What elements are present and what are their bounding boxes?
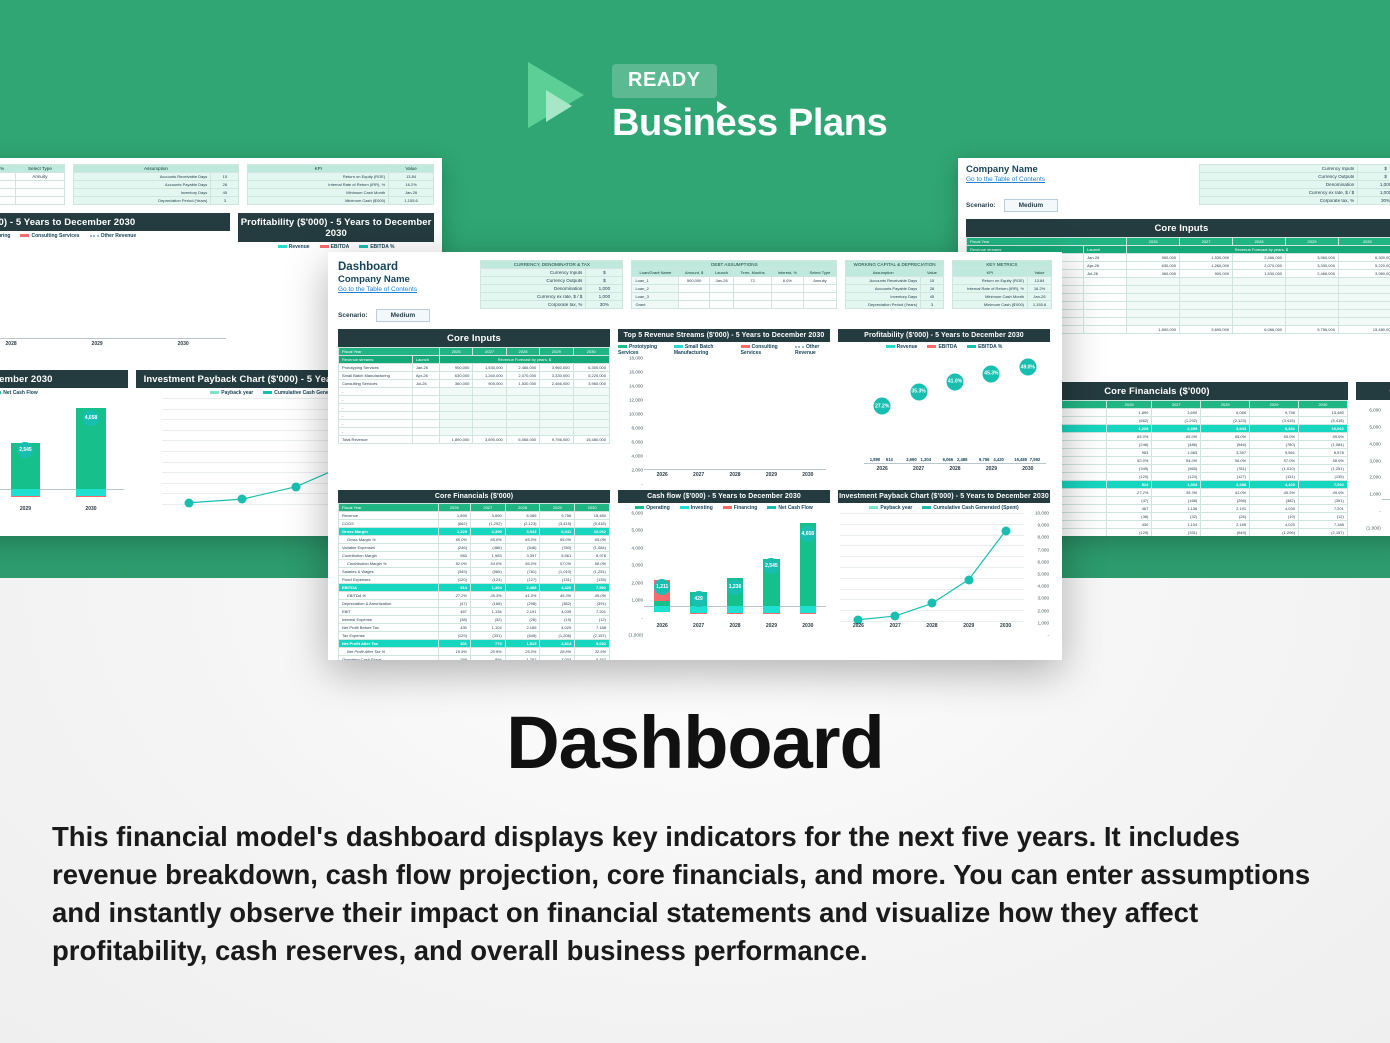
cell[interactable] <box>1084 294 1127 302</box>
cell[interactable]: Annuity <box>16 173 64 181</box>
payback-point <box>1001 526 1010 535</box>
row-label: Minimum Cash ($'000) <box>952 301 1027 309</box>
cell[interactable] <box>506 388 539 396</box>
y-tick: 12,000 <box>629 398 643 403</box>
cell[interactable] <box>772 293 804 301</box>
row-value: 10,062 <box>575 528 610 536</box>
legend-swatch <box>618 345 627 348</box>
cell[interactable] <box>506 428 539 436</box>
row-label: Depreciation Period (Years) <box>73 197 211 205</box>
y-tick: 4,000 <box>632 545 644 550</box>
stream-launch[interactable]: Jan-26 <box>412 364 439 372</box>
row-value: 49.0% <box>1298 489 1347 497</box>
stream-value[interactable]: 1,530,000 <box>1233 270 1286 278</box>
legend-item: Small Batch Manufacturing <box>674 344 731 356</box>
y-tick: 6,000 <box>1369 408 1381 413</box>
cell[interactable] <box>473 396 506 404</box>
row-label: Contribution Margin <box>339 552 439 560</box>
stream-value[interactable]: 630,000 <box>1127 262 1180 270</box>
cell[interactable] <box>540 404 573 412</box>
cell[interactable] <box>412 428 439 436</box>
row-value: (120) <box>1106 473 1152 481</box>
cell[interactable] <box>439 420 472 428</box>
cell[interactable]: Jan-26 <box>709 277 733 285</box>
cell[interactable] <box>506 404 539 412</box>
row-value[interactable]: 1,000 <box>586 285 623 293</box>
row-value: (382) <box>1250 497 1299 505</box>
row-value: (129) <box>1106 529 1152 537</box>
row-value: (298) <box>505 600 540 608</box>
row-value: (3,415) <box>1250 417 1299 425</box>
row-value: 1,229 <box>438 528 470 536</box>
cell[interactable] <box>1180 294 1233 302</box>
row-value: (1,084) <box>575 544 610 552</box>
table-row: Net Profit After Tax3017731,5152,8145,03… <box>339 640 610 648</box>
key-metrics-table: KPI Value Return on Equity (ROE)13.84Int… <box>247 164 434 205</box>
row-value[interactable]: $ <box>586 277 623 285</box>
cell[interactable] <box>439 412 472 420</box>
stream-value[interactable]: 3,330,000 <box>540 372 573 380</box>
row-value: 2,399 <box>1152 425 1201 433</box>
stream-value[interactable]: 2,466,000 <box>540 380 573 388</box>
row-label: Currency Outputs <box>481 277 586 285</box>
year-header: 2026 <box>439 348 472 356</box>
core-inputs-banner-right: Core Inputs <box>966 219 1390 237</box>
stream-value[interactable]: 5,220,000 <box>1338 262 1390 270</box>
stream-value[interactable]: 360,000 <box>439 380 472 388</box>
cell[interactable] <box>1338 302 1390 310</box>
row-value: 467 <box>1106 505 1152 513</box>
cell[interactable] <box>1338 278 1390 286</box>
km-title-center: KEY METRICS <box>952 261 1051 269</box>
row-value[interactable]: 3 <box>921 301 944 309</box>
row-value: (1,084) <box>1298 441 1347 449</box>
cell[interactable]: Loan_2 <box>632 285 679 293</box>
cell[interactable] <box>16 189 64 197</box>
cell[interactable]: 8.0% <box>0 173 16 181</box>
cell[interactable] <box>439 428 472 436</box>
x-tick: 2028 <box>717 623 753 635</box>
cell[interactable] <box>734 293 772 301</box>
table-row: Minimum Cash MonthJan-26 <box>952 293 1051 301</box>
table-row: COGS(662)(1,292)(2,123)(3,415)(5,418) <box>339 520 610 528</box>
row-value: 65.0% <box>438 536 470 544</box>
row-value: 52.0% <box>438 560 470 568</box>
cell[interactable] <box>1233 318 1286 326</box>
cell[interactable] <box>0 197 16 205</box>
debt-table: DEBT ASSUMPTIONS Loan/Grant NameAmount, … <box>631 260 837 309</box>
cell[interactable] <box>734 285 772 293</box>
stream-value[interactable]: 6,300,000 <box>1338 254 1390 262</box>
cell[interactable] <box>1127 318 1180 326</box>
column-header: Launch <box>709 269 733 277</box>
cell[interactable] <box>439 404 472 412</box>
cell[interactable]: - <box>339 388 413 396</box>
row-value: (2,157) <box>1298 529 1347 537</box>
cell[interactable] <box>412 404 439 412</box>
ebitda-pct-bubble: 27.2% <box>874 398 891 415</box>
row-value[interactable]: $ <box>1358 165 1390 173</box>
row-value: 2,488 <box>505 584 540 592</box>
stream-value[interactable]: 1,530,000 <box>506 380 539 388</box>
row-value: 514 <box>438 584 470 592</box>
cell[interactable]: Grant <box>632 301 679 309</box>
core-inputs-banner: Core Inputs <box>338 329 610 347</box>
cell[interactable] <box>1084 302 1127 310</box>
row-value: 65.0% <box>1152 433 1201 441</box>
row-value[interactable]: 13.84 <box>389 173 434 181</box>
legend-swatch <box>90 235 99 237</box>
row-value: (19) <box>540 616 575 624</box>
row-value[interactable]: 1,000 <box>1358 189 1390 197</box>
row-value: (565) <box>1152 465 1201 473</box>
stream-launch[interactable]: Jan-26 <box>1084 254 1127 262</box>
row-value: 1,515 <box>505 640 540 648</box>
cell[interactable]: - <box>339 404 413 412</box>
stream-value[interactable]: 1,260,000 <box>473 372 506 380</box>
cell[interactable]: Loan_1 <box>632 277 679 285</box>
stream-value[interactable]: 3,960,000 <box>1338 270 1390 278</box>
cell[interactable] <box>1233 278 1286 286</box>
table-row: Minimum Cash ($'000)1,155.6 <box>248 197 434 205</box>
cell[interactable] <box>1180 278 1233 286</box>
cell[interactable] <box>573 388 609 396</box>
cell[interactable] <box>540 428 573 436</box>
payback-legend-center: Payback yearCumulative Cash Generated (S… <box>838 503 1050 513</box>
table-row: Contribution Margin %52.0%54.0%56.0%57.0… <box>339 560 610 568</box>
cell[interactable] <box>1338 318 1390 326</box>
cell[interactable] <box>1233 302 1286 310</box>
total-value: 15,480,000 <box>573 436 609 444</box>
row-value[interactable]: 3 <box>211 197 239 205</box>
cell[interactable] <box>1084 278 1127 286</box>
stream-value[interactable]: 3,960,000 <box>573 380 609 388</box>
row-value: 467 <box>438 608 470 616</box>
row-value: 27.2% <box>438 592 470 600</box>
cashflow-chart-right[interactable]: 6,0005,0004,0003,0002,0001,000-(1,000) 1… <box>1356 410 1390 528</box>
row-value[interactable]: Jan-26 <box>389 189 434 197</box>
row-value[interactable]: 45 <box>921 293 944 301</box>
cell[interactable] <box>1180 286 1233 294</box>
row-value: (131) <box>540 576 575 584</box>
cell[interactable] <box>1233 294 1286 302</box>
stream-value[interactable]: 2,466,000 <box>1233 254 1286 262</box>
table-row: Depreciation Period (Years)3 <box>73 197 239 205</box>
year-header: 2030 <box>573 348 609 356</box>
row-value: 1,890 <box>438 512 470 520</box>
cell[interactable] <box>506 412 539 420</box>
cell[interactable] <box>473 388 506 396</box>
cell[interactable] <box>573 420 609 428</box>
cell[interactable] <box>0 181 16 189</box>
payback-chart-center[interactable]: 10,0009,0008,0007,0006,0005,0004,0003,00… <box>838 513 1050 635</box>
cell[interactable] <box>412 420 439 428</box>
row-label: Corporate tax, % <box>481 301 586 309</box>
row-value: 41.0% <box>505 592 540 600</box>
cell[interactable]: - <box>339 412 413 420</box>
cell[interactable]: 72 <box>734 277 772 285</box>
row-label: EBITDA <box>339 584 439 592</box>
cell[interactable] <box>1286 294 1339 302</box>
stream-value[interactable]: 2,466,000 <box>506 364 539 372</box>
row-value[interactable]: $ <box>586 269 623 277</box>
cell[interactable]: Loan_3 <box>632 293 679 301</box>
cell[interactable] <box>540 412 573 420</box>
row-value: (131) <box>1250 473 1299 481</box>
table-row: - <box>339 388 610 396</box>
cell[interactable] <box>540 388 573 396</box>
profitability-chart-center[interactable]: 1,8905143,6901,3046,0662,4889,7564,42015… <box>838 352 1050 478</box>
ebitda-pct-bubble: 49.0% <box>1019 359 1036 376</box>
cell[interactable] <box>803 301 837 309</box>
row-value[interactable]: 1,000 <box>1358 181 1390 189</box>
cell[interactable] <box>540 420 573 428</box>
row-value[interactable]: 16.2% <box>389 181 434 189</box>
column-header: Loan/Grant Name <box>632 269 679 277</box>
cell[interactable] <box>803 285 837 293</box>
row-value: (135) <box>575 576 610 584</box>
cell[interactable] <box>1338 286 1390 294</box>
cell[interactable] <box>1127 310 1180 318</box>
row-value[interactable]: 28 <box>921 285 944 293</box>
cell[interactable] <box>1233 286 1286 294</box>
cell[interactable] <box>1127 278 1180 286</box>
table-row: Currency Inputs$ <box>1200 165 1390 173</box>
cell[interactable] <box>1338 310 1390 318</box>
row-value[interactable]: 13.84 <box>1028 277 1052 285</box>
toc-link-right[interactable]: Go to the Table of Contents <box>966 176 1191 183</box>
cell[interactable]: - <box>339 420 413 428</box>
dashboard-window[interactable]: Dashboard Company Name Go to the Table o… <box>328 252 1062 660</box>
row-value[interactable]: 15 <box>211 173 239 181</box>
cell[interactable] <box>709 301 733 309</box>
stream-value[interactable]: 1,530,000 <box>473 364 506 372</box>
column-header: Value <box>1028 269 1052 277</box>
cell[interactable] <box>16 197 64 205</box>
cell[interactable] <box>1286 318 1339 326</box>
stream-value[interactable]: 5,220,000 <box>573 372 609 380</box>
stream-value[interactable]: 900,000 <box>473 380 506 388</box>
legend-swatch <box>886 345 895 348</box>
year-header: 2030 <box>1298 401 1347 409</box>
row-label: Gross Margin % <box>339 536 439 544</box>
cell[interactable] <box>439 396 472 404</box>
cashflow-chart-center[interactable]: 6,0005,0004,0003,0002,0001,000-(1,000) 1… <box>618 513 830 635</box>
row-value[interactable]: 45 <box>211 189 239 197</box>
streams-label: Revenue streams <box>339 356 413 364</box>
row-value[interactable]: Jan-26 <box>1028 293 1052 301</box>
rev-streams-chart[interactable]: 20262027202820292030 <box>0 241 230 353</box>
cell[interactable] <box>573 396 609 404</box>
stream-value[interactable]: 1,260,000 <box>1180 262 1233 270</box>
y-tick: (1,000) <box>628 633 643 638</box>
row-value: 2,191 <box>505 608 540 616</box>
stream-value[interactable]: 900,000 <box>439 364 472 372</box>
x-tick: 2028 <box>717 472 753 484</box>
y-tick: 3,000 <box>632 563 644 568</box>
stream-value[interactable]: 2,070,000 <box>1233 262 1286 270</box>
cell[interactable] <box>1084 310 1127 318</box>
cell[interactable] <box>1286 286 1339 294</box>
cell[interactable] <box>540 396 573 404</box>
ebitda-pct-bubble: 35.3% <box>910 383 927 400</box>
payback-point <box>291 482 300 491</box>
cell[interactable] <box>412 388 439 396</box>
table-row: Gross Margin1,2292,3993,9436,34110,062 <box>339 528 610 536</box>
row-value: (124) <box>1152 473 1201 481</box>
legend-item: Cumulative Cash Generated (Spent) <box>922 505 1018 511</box>
x-tick: 2030 <box>790 623 826 635</box>
cell[interactable] <box>734 301 772 309</box>
cell[interactable] <box>1180 318 1233 326</box>
year-header: 2026 <box>1127 238 1180 246</box>
stream-value[interactable]: 2,466,000 <box>1286 270 1339 278</box>
cell[interactable] <box>573 412 609 420</box>
stream-value[interactable]: 900,000 <box>1180 270 1233 278</box>
cell[interactable] <box>1286 302 1339 310</box>
row-value[interactable]: 1,155.6 <box>389 197 434 205</box>
stream-value[interactable]: 900,000 <box>1127 254 1180 262</box>
stream-value[interactable]: 3,960,000 <box>1286 254 1339 262</box>
cell[interactable] <box>1286 278 1339 286</box>
cell[interactable] <box>772 285 804 293</box>
currency-table: CURRENCY, DENOMINATOR & TAX Currency Inp… <box>480 260 623 309</box>
column-header: Value <box>921 269 944 277</box>
row-value: (662) <box>438 520 470 528</box>
revenue-streams-chart[interactable]: 18,00016,00014,00012,00010,0008,0006,000… <box>618 358 830 484</box>
row-value: (26) <box>505 616 540 624</box>
row-value: (2,157) <box>575 632 610 640</box>
cell[interactable] <box>0 189 16 197</box>
stream-value[interactable]: 2,070,000 <box>506 372 539 380</box>
row-value: 5,342 <box>575 656 610 660</box>
bar-segment-negative <box>11 489 41 496</box>
cell[interactable] <box>473 404 506 412</box>
row-value[interactable]: 16.2% <box>1028 285 1052 293</box>
stream-launch[interactable]: Apr-26 <box>1084 262 1127 270</box>
row-value: 1,229 <box>1106 425 1152 433</box>
cell[interactable] <box>412 396 439 404</box>
cell[interactable] <box>1338 294 1390 302</box>
revenue-streams-legend: Prototyping ServicesSmall Batch Manufact… <box>618 342 830 358</box>
cell[interactable] <box>1233 310 1286 318</box>
cell[interactable] <box>473 420 506 428</box>
cell[interactable] <box>772 301 804 309</box>
row-value: 7,188 <box>575 624 610 632</box>
cell[interactable] <box>803 293 837 301</box>
x-tick: 2029 <box>973 466 1009 478</box>
row-value[interactable]: 30% <box>586 301 623 309</box>
cell[interactable] <box>679 301 710 309</box>
row-value[interactable]: 28 <box>211 181 239 189</box>
row-value: (19) <box>1250 513 1299 521</box>
table-row: Accounts Payable Days28 <box>73 181 239 189</box>
row-value: (32) <box>470 616 505 624</box>
cell[interactable] <box>1286 310 1339 318</box>
table-row: Salaries & Wages(349)(565)(781)(1,010)(1… <box>339 568 610 576</box>
cashflow-chart[interactable]: 1,2114291,2362,5454,658 2026202720282029… <box>0 398 128 518</box>
cell[interactable] <box>709 293 733 301</box>
cell[interactable] <box>1127 294 1180 302</box>
row-label: Gross Margin <box>339 528 439 536</box>
cell[interactable] <box>1084 286 1127 294</box>
stream-value[interactable]: 3,330,000 <box>1286 262 1339 270</box>
cell[interactable] <box>16 181 64 189</box>
stream-launch[interactable]: Apr-26 <box>412 372 439 380</box>
cell[interactable]: - <box>339 428 413 436</box>
cell[interactable] <box>473 428 506 436</box>
row-value[interactable]: 15 <box>921 277 944 285</box>
stream-value[interactable]: 630,000 <box>439 372 472 380</box>
row-value: 1,104 <box>470 624 505 632</box>
cell[interactable] <box>709 285 733 293</box>
scenario-value-right[interactable]: Medium <box>1004 199 1059 212</box>
cell[interactable] <box>1180 310 1233 318</box>
row-value: 58.0% <box>575 560 610 568</box>
row-value: 32.5% <box>575 648 610 656</box>
legend-swatch <box>767 506 776 509</box>
stream-name: Consulting Services <box>339 380 413 388</box>
stream-value[interactable]: 1,530,000 <box>1180 254 1233 262</box>
cell[interactable] <box>412 412 439 420</box>
stream-launch[interactable]: Jul-26 <box>1084 270 1127 278</box>
cell[interactable]: 500,000 <box>679 277 710 285</box>
column-header: Assumption <box>846 269 921 277</box>
cell[interactable] <box>1180 302 1233 310</box>
table-row: Small Batch ManufacturingApr-26630,0001,… <box>339 372 610 380</box>
table-row: Denomination1,000 <box>481 285 623 293</box>
row-value[interactable]: 30% <box>1358 197 1390 205</box>
row-label: Minimum Cash ($'000) <box>248 197 389 205</box>
cell[interactable] <box>1127 286 1180 294</box>
stream-launch[interactable]: Jul-26 <box>412 380 439 388</box>
row-value[interactable]: 1,000 <box>586 293 623 301</box>
cell[interactable] <box>439 388 472 396</box>
legend-item: Consulting Services <box>20 233 79 239</box>
x-tick: 2026 <box>840 623 877 635</box>
toc-link[interactable]: Go to the Table of Contents <box>338 286 472 293</box>
cell[interactable] <box>1127 302 1180 310</box>
cell[interactable]: Annuity <box>803 277 837 285</box>
cell[interactable] <box>473 412 506 420</box>
cell[interactable] <box>679 293 710 301</box>
cell[interactable]: 8.0% <box>772 277 804 285</box>
cashflow-legend: OperatingInvestingFinancingNet Cash Flow <box>0 388 128 398</box>
table-row: Prototyping ServicesJan-26900,0001,530,0… <box>339 364 610 372</box>
stream-value[interactable]: 360,000 <box>1127 270 1180 278</box>
row-value[interactable]: 1,155.6 <box>1028 301 1052 309</box>
cell[interactable] <box>679 285 710 293</box>
y-tick: 3,000 <box>1038 596 1050 601</box>
stream-value[interactable]: 6,300,000 <box>573 364 609 372</box>
table-row: Loan_2 <box>0 181 64 189</box>
cell[interactable] <box>1084 318 1127 326</box>
cell[interactable] <box>573 428 609 436</box>
legend-swatch <box>20 234 29 237</box>
row-value: 7,188 <box>1298 521 1347 529</box>
row-value[interactable]: $ <box>1358 173 1390 181</box>
scenario-selector[interactable]: Medium <box>376 309 431 322</box>
row-value: (486) <box>470 544 505 552</box>
cell[interactable] <box>573 404 609 412</box>
stream-value[interactable]: 3,960,000 <box>540 364 573 372</box>
cell[interactable] <box>506 396 539 404</box>
cell[interactable]: - <box>339 396 413 404</box>
gridline <box>840 621 1024 622</box>
row-value: (349) <box>1106 465 1152 473</box>
page-title: Dashboard <box>338 260 472 274</box>
cell[interactable] <box>506 420 539 428</box>
